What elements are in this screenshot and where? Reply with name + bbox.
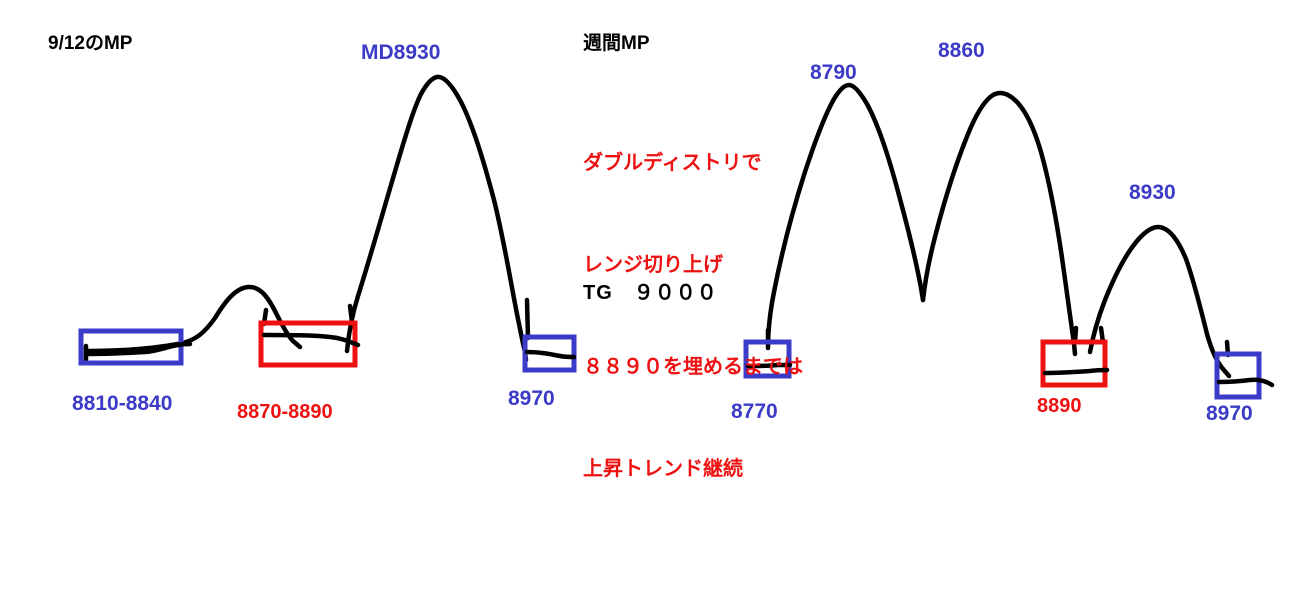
value-box-label-8770: 8770 — [731, 401, 778, 422]
value-box-label-8810-8840: 8810-8840 — [72, 393, 172, 414]
note-line-2: レンジ切り上げ — [583, 248, 803, 282]
annotated-market-profile-chart: 9/12のMP MD8930 8810-8840 8870-8890 8970 … — [0, 0, 1302, 606]
right-peak-label-8930: 8930 — [1129, 182, 1176, 203]
price-curve-right-peak-2 — [923, 93, 1075, 354]
right-peak-label-8790: 8790 — [810, 62, 857, 83]
target-label-tg: TG ９０００ — [583, 283, 718, 303]
price-curve-left — [88, 287, 300, 351]
left-panel-title: 9/12のMP — [48, 34, 132, 53]
value-box-8870-8890[interactable] — [261, 323, 355, 365]
left-peak-label-md8930: MD8930 — [361, 42, 440, 63]
level-line-8870-8890 — [264, 335, 358, 345]
note-line-1: ダブルディストリで — [583, 146, 803, 180]
price-curve-right-peak-3 — [1090, 227, 1229, 376]
value-box-label-8970-left: 8970 — [508, 388, 555, 409]
value-box-label-8890: 8890 — [1037, 396, 1082, 416]
note-line-3: ８８９０を埋めるまでは — [583, 350, 803, 384]
level-line-8970-left — [527, 352, 574, 357]
right-panel-title: 週間MP — [583, 34, 650, 53]
right-peak-label-8860: 8860 — [938, 40, 985, 61]
value-box-label-8970-right: 8970 — [1206, 403, 1253, 424]
stem-into-8970-box-left — [527, 300, 528, 338]
value-box-8970-right[interactable] — [1217, 354, 1259, 397]
note-line-4: 上昇トレンド継続 — [583, 452, 803, 486]
stem-out-red-box-left — [350, 306, 352, 322]
value-box-label-8870-8890: 8870-8890 — [237, 402, 333, 422]
level-line-8970-right — [1219, 380, 1272, 385]
level-line-8890 — [1045, 370, 1107, 373]
price-curve-left-peak — [347, 77, 526, 360]
commentary-notes: ダブルディストリで レンジ切り上げ ８８９０を埋めるまでは 上昇トレンド継続 — [583, 78, 803, 554]
